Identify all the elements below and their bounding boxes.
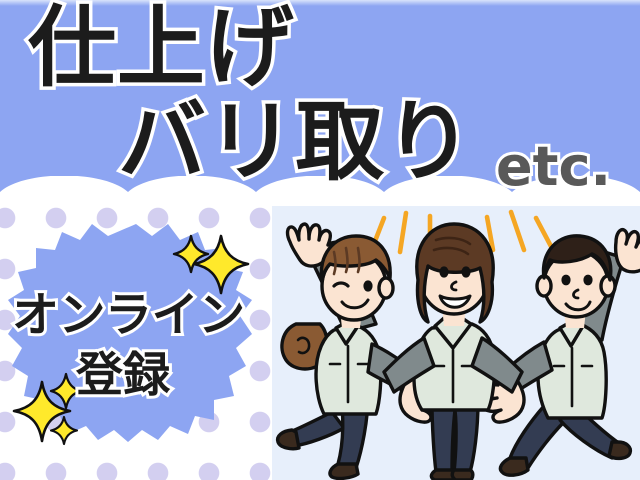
sparkle-top-large-icon xyxy=(194,236,248,293)
headline-panel: 仕上げ バリ取り etc. xyxy=(0,0,640,210)
headline-suffix-etc: etc. xyxy=(496,140,611,194)
sparkle-bottom-mid-icon xyxy=(51,374,81,408)
three-staff-illustration xyxy=(272,206,640,480)
headline-line-2: バリ取り xyxy=(118,98,474,186)
headline-line-1: 仕上げ xyxy=(28,4,295,92)
online-registration-badge-panel: オンライン 登録 xyxy=(0,206,272,480)
job-ad-banner: 仕上げ バリ取り etc. xyxy=(0,0,640,480)
staff-illustration-panel xyxy=(272,206,640,480)
sparkles-layer xyxy=(0,206,272,480)
sparkle-bottom-small-icon xyxy=(51,417,77,444)
headline-text-group: 仕上げ バリ取り etc. xyxy=(0,0,640,210)
